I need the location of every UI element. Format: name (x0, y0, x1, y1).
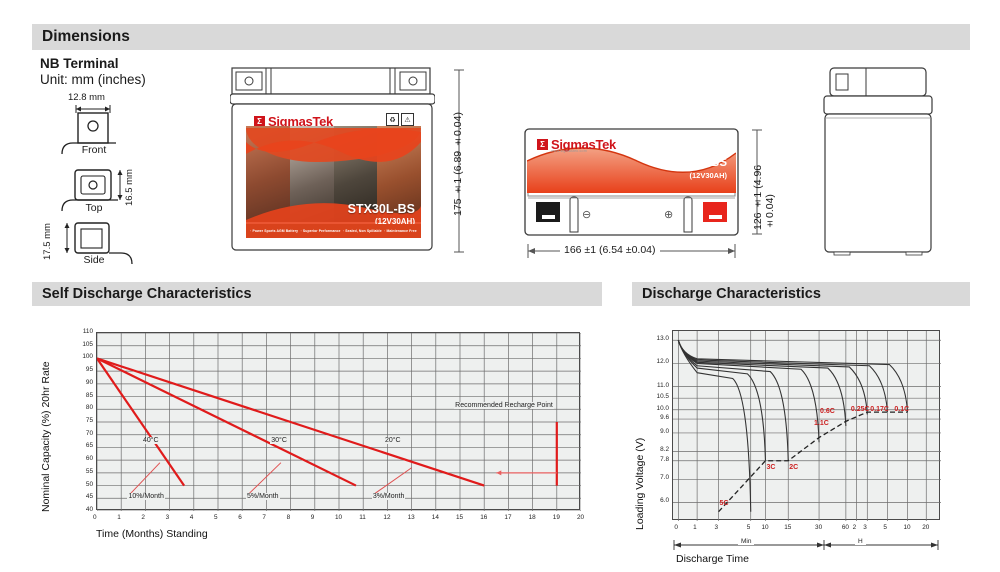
battery-label-side: Σ SigmasTek www.sigmastek.com STX30L-BS … (527, 131, 736, 193)
sd-ytick-65: 65 (78, 442, 93, 449)
dc-xtick-hr-2: 2 (853, 524, 857, 531)
positive-terminal-slot (709, 215, 722, 219)
sd-xtick-12: 12 (383, 514, 390, 521)
section-header-discharge: Discharge Characteristics (632, 282, 970, 306)
dc-xtick-hr-5: 5 (883, 524, 887, 531)
sd-annotation-1: 30°C (270, 437, 288, 444)
dc-xtick-min-10: 10 (761, 524, 768, 531)
sd-xtick-2: 2 (141, 514, 145, 521)
front-height-dimension: 175 ±1 (6.89 ±0.04) (452, 106, 464, 216)
discharge-rate-5C: 5C (720, 500, 729, 507)
terminal-height-dim: 17.5 mm (42, 216, 53, 260)
sd-ytick-45: 45 (78, 493, 93, 500)
terminal-view-top-label: Top (64, 202, 124, 214)
dc-xtick-min-60: 60 (842, 524, 849, 531)
dc-xtick-min-3: 3 (715, 524, 719, 531)
sd-xtick-18: 18 (529, 514, 536, 521)
sd-annotation-2: 20°C (384, 437, 402, 444)
nb-terminal-title: NB Terminal (40, 56, 119, 71)
side-length-dimension: 166 ±1 (6.54 ±0.04) (560, 244, 660, 256)
discharge-chart (672, 330, 940, 520)
dc-ytick-13: 13.0 (646, 335, 669, 342)
negative-terminal-slot (542, 215, 555, 219)
dc-ytick-10: 10.0 (646, 405, 669, 412)
sd-ytick-80: 80 (78, 404, 93, 411)
sd-ytick-85: 85 (78, 392, 93, 399)
negative-terminal-block (536, 202, 560, 222)
tagline-item-1: · Superior Performance (301, 229, 341, 233)
sd-ytick-90: 90 (78, 379, 93, 386)
sd-annotation-6: Recommended Recharge Point (454, 402, 554, 409)
dc-xtick-hr-10: 10 (904, 524, 911, 531)
discharge-curve-1.1C (678, 340, 819, 442)
tagline-item-3: · Maintenance Free (384, 229, 417, 233)
terminal-front-svg (40, 92, 180, 267)
tagline-item-0: · Power Sports AGM Battery (250, 229, 298, 233)
sd-xtick-15: 15 (456, 514, 463, 521)
dc-xtick-min-30: 30 (815, 524, 822, 531)
product-tagline: · Power Sports AGM Battery · Superior Pe… (246, 224, 421, 238)
section-header-dimensions: Dimensions (32, 24, 970, 50)
sd-xtick-1: 1 (117, 514, 121, 521)
caution-icon: ⚠ (401, 113, 414, 126)
sd-ytick-110: 110 (78, 328, 93, 335)
dc-ytick-10.5: 10.5 (646, 393, 669, 400)
dc-ytick-7.8: 7.8 (646, 456, 669, 463)
discharge-scale-hour-label: H (855, 538, 866, 545)
dc-ytick-9.6: 9.6 (646, 414, 669, 421)
sd-xtick-14: 14 (432, 514, 439, 521)
self-discharge-y-axis-title: Nominal Capacity (%) 20hr Rate (40, 352, 52, 512)
section-title-discharge: Discharge Characteristics (642, 286, 821, 302)
sigma-mark-icon-side: Σ (537, 139, 548, 150)
sd-ytick-105: 105 (78, 341, 93, 348)
sd-xtick-10: 10 (335, 514, 342, 521)
self-discharge-chart (96, 332, 580, 510)
sd-annotation-4: 5%/Month (246, 493, 280, 500)
terminal-drawings: 12.8 mm Front 16.5 mm Top 17.5 mm Side (40, 92, 180, 267)
discharge-curve-0.1C (678, 340, 907, 412)
sd-xtick-4: 4 (190, 514, 194, 521)
discharge-scale-min-label: Min (738, 538, 754, 545)
voltage-rating-side: (12V30AH) (689, 171, 727, 180)
sd-annotation-3: 10%/Month (127, 493, 164, 500)
sd-annotation-5: 3%/Month (372, 493, 406, 500)
terminal-view-side-label: Side (64, 254, 124, 266)
discharge-x-axis-title: Discharge Time (676, 553, 749, 565)
terminal-view-front-label: Front (64, 144, 124, 156)
battery-front-view: Σ SigmasTek www.sigmastek.com ♻ ⚠ STX30L… (230, 66, 435, 252)
discharge-rate-0.17C: 0.17C (870, 406, 889, 413)
section-title-self-discharge: Self Discharge Characteristics (42, 286, 252, 302)
sd-annotation-0: 40°C (142, 437, 160, 444)
discharge-y-axis-title: Loading Voltage (V) (634, 400, 646, 530)
dc-xtick-min-1: 1 (693, 524, 697, 531)
recycle-icon: ♻ (386, 113, 399, 126)
sd-xtick-9: 9 (311, 514, 315, 521)
sd-ytick-40: 40 (78, 506, 93, 513)
battery-rear-view (822, 66, 934, 256)
discharge-rate-2C: 2C (789, 464, 798, 471)
positive-polarity-icon: ⊕ (664, 208, 673, 221)
tagline-item-2: · Sealed, Non Spillable (343, 229, 382, 233)
model-number-front: STX30L-BS (348, 202, 415, 216)
sd-xtick-5: 5 (214, 514, 218, 521)
sd-ytick-60: 60 (78, 455, 93, 462)
dc-ytick-7: 7.0 (646, 474, 669, 481)
sd-ytick-70: 70 (78, 430, 93, 437)
discharge-rate-1.1C: 1.1C (814, 420, 829, 427)
discharge-curve-0.25C (678, 340, 867, 414)
dc-ytick-6: 6.0 (646, 497, 669, 504)
discharge-cutoff-curve (719, 412, 908, 512)
dc-ytick-12: 12.0 (646, 358, 669, 365)
sd-xtick-11: 11 (359, 514, 366, 521)
sd-xtick-0: 0 (93, 514, 97, 521)
dc-xtick-min-5: 5 (747, 524, 751, 531)
discharge-rate-0.1C: 0.1C (894, 406, 909, 413)
positive-terminal-block (703, 202, 727, 222)
dc-xtick-min-15: 15 (784, 524, 791, 531)
dc-xtick-min-0: 0 (674, 524, 678, 531)
discharge-rate-0.6C: 0.6C (820, 408, 835, 415)
sd-ytick-100: 100 (78, 353, 93, 360)
dc-ytick-8.2: 8.2 (646, 446, 669, 453)
sd-ytick-50: 50 (78, 481, 93, 488)
battery-side-view: Σ SigmasTek www.sigmastek.com STX30L-BS … (524, 128, 739, 236)
self-discharge-plot (97, 333, 581, 511)
discharge-scale-bars (672, 538, 940, 552)
battery-rear-outline (822, 66, 934, 256)
section-title-dimensions: Dimensions (42, 28, 130, 46)
sd-xtick-17: 17 (504, 514, 511, 521)
battery-label-front: Σ SigmasTek www.sigmastek.com ♻ ⚠ STX30L… (246, 108, 421, 238)
sd-ytick-75: 75 (78, 417, 93, 424)
dc-xtick-hr-20: 20 (922, 524, 929, 531)
dc-ytick-11: 11.0 (646, 382, 669, 389)
sd-xtick-16: 16 (480, 514, 487, 521)
sd-ytick-95: 95 (78, 366, 93, 373)
discharge-plot (673, 331, 941, 521)
sd-xtick-3: 3 (166, 514, 170, 521)
sd-xtick-8: 8 (287, 514, 291, 521)
self-discharge-x-axis-title: Time (Months) Standing (96, 528, 208, 540)
sd-xtick-13: 13 (408, 514, 415, 521)
side-width-dimension: 126 ±1 (4.96 ±0.04) (752, 138, 776, 230)
negative-polarity-icon: ⊖ (582, 208, 591, 221)
discharge-rate-0.25C: 0.25C (851, 406, 870, 413)
sd-xtick-20: 20 (577, 514, 584, 521)
dc-ytick-9: 9.0 (646, 428, 669, 435)
terminal-depth-dim: 16.5 mm (124, 164, 135, 206)
sd-ytick-55: 55 (78, 468, 93, 475)
sd-xtick-6: 6 (238, 514, 242, 521)
model-number-side: STX30L-BS (665, 157, 727, 169)
discharge-rate-3C: 3C (766, 464, 775, 471)
sd-xtick-19: 19 (553, 514, 560, 521)
dc-xtick-hr-3: 3 (863, 524, 867, 531)
sd-xtick-7: 7 (262, 514, 266, 521)
unit-label: Unit: mm (inches) (40, 72, 146, 87)
brand-url-side: www.sigmastek.com (551, 149, 587, 153)
section-header-self-discharge: Self Discharge Characteristics (32, 282, 602, 306)
